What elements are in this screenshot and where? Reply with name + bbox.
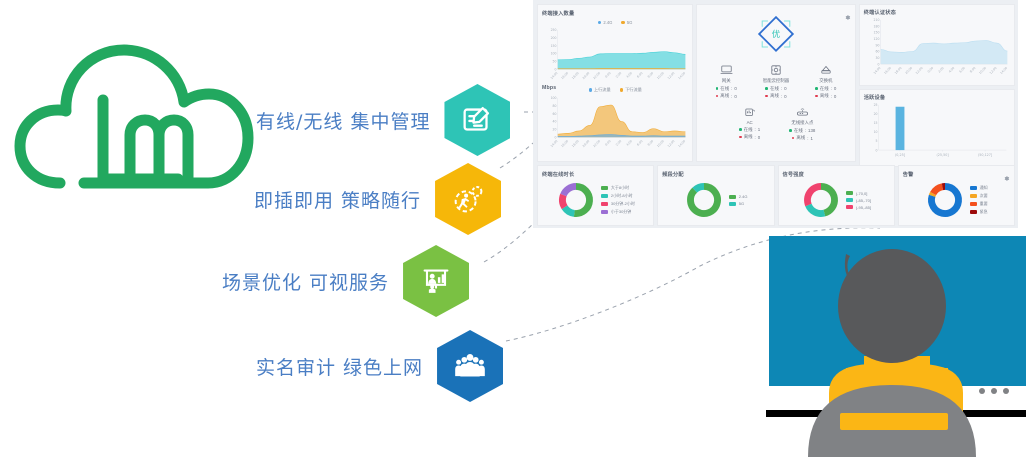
svg-text:14:00: 14:00 — [677, 139, 686, 148]
offline-dot — [765, 95, 768, 98]
svg-text:210: 210 — [873, 18, 879, 22]
svg-text:25: 25 — [873, 103, 877, 107]
donut-legend-swatch — [601, 186, 608, 190]
feature-label: 实名审计 绿色上网 — [256, 353, 423, 380]
svg-text:20:00: 20:00 — [582, 71, 591, 80]
donut-chart — [801, 180, 841, 220]
offline-dot — [792, 137, 795, 140]
svg-text:16:00: 16:00 — [560, 139, 569, 148]
donut-legend-label: 2.4G — [739, 194, 748, 199]
device-cell-switch: 交换机 在线: 0 离线: 0 — [802, 62, 850, 99]
svg-text:0:00: 0:00 — [604, 71, 612, 79]
offline-label: 离线 — [770, 93, 779, 99]
right-charts-column: 终端认证状态 030609012015018021014:0016:0018:0… — [859, 4, 1015, 162]
svg-text:120: 120 — [873, 37, 879, 41]
people-group-icon — [437, 330, 503, 402]
legend-label: 5G — [627, 20, 633, 25]
donut-legend-item: 2小时-8小时 — [601, 193, 635, 199]
donut-legend-item: 小于30分钟 — [601, 209, 635, 215]
terminal-chart-legend: 2.4G 5G — [542, 20, 688, 25]
offline-dot — [716, 95, 719, 98]
svg-text:6:00: 6:00 — [958, 66, 966, 74]
legend-item: 5G — [621, 20, 632, 25]
donut-legend-item: 5G — [729, 201, 747, 206]
legend-label: 上行流量 — [594, 87, 611, 93]
donut-charts-row: 终端在线时长 大于8小时2小时-8小时30分钟-2小时小于30分钟 频段分配 2… — [537, 165, 1015, 226]
donut-legend-label: 5G — [739, 201, 744, 206]
donut-legend-label: (-95,-85] — [856, 205, 871, 210]
device-online: 在线: 0 — [752, 86, 800, 92]
device-online: 在线: 0 — [802, 86, 850, 92]
person-at-monitor-illustration — [766, 236, 1026, 457]
online-count: 0 — [834, 86, 836, 91]
svg-text:18:00: 18:00 — [571, 139, 580, 148]
svg-text:2:00: 2:00 — [615, 71, 623, 79]
offline-count: 1 — [810, 136, 812, 141]
svg-text:20:00: 20:00 — [904, 66, 913, 75]
offline-count: 0 — [834, 94, 836, 99]
device-name: 无线接入点 — [778, 120, 826, 126]
donut-legend: 2.4G5G — [729, 194, 747, 206]
settings-gear-icon[interactable] — [844, 8, 851, 26]
donut-card-alarm: 告警 通知次要重要紧急 — [898, 165, 1015, 226]
svg-text:0: 0 — [875, 148, 877, 152]
device-offline: 离线: 0 — [726, 134, 774, 140]
presentation-chart-icon — [403, 245, 469, 317]
svg-text:20: 20 — [873, 112, 877, 116]
online-count: 138 — [808, 128, 815, 133]
svg-text:60: 60 — [553, 112, 557, 116]
donut-legend-label: (-70,0] — [856, 191, 868, 196]
svg-text:22:00: 22:00 — [592, 139, 601, 148]
device-row-bottom: AC 在线: 1 离线: 0 — [701, 104, 850, 141]
svg-text:5: 5 — [875, 139, 877, 143]
svg-text:(50,127]: (50,127] — [978, 153, 993, 157]
offline-count: 0 — [734, 94, 736, 99]
online-label: 在线 — [794, 128, 803, 134]
gateway-icon — [702, 62, 750, 77]
device-online: 在线: 1 — [726, 127, 774, 133]
online-dot — [815, 87, 818, 90]
traffic-chart-legend: 上行流量 下行流量 — [542, 87, 688, 93]
donut-legend-item: 2.4G — [729, 194, 747, 199]
feature-hex-icon-wrap — [435, 163, 501, 235]
donut-legend-item: (-70,0] — [846, 191, 871, 196]
donut-legend-label: 大于8小时 — [611, 185, 629, 191]
donut-legend-swatch — [846, 191, 853, 195]
svg-text:60: 60 — [875, 50, 879, 54]
svg-text:10:00: 10:00 — [656, 71, 665, 80]
feature-row-plug-and-play: 即插即用 策略随行 — [254, 163, 501, 235]
active-devices-card: 活跃设备 0510152025(0,25](25,50](50,127] — [859, 89, 1015, 167]
donut-legend-label: 小于30分钟 — [611, 209, 631, 215]
svg-text:12:00: 12:00 — [667, 71, 676, 80]
donut-legend-swatch — [729, 202, 736, 206]
donut-body: 2.4G5G — [662, 180, 769, 220]
online-count: 1 — [758, 127, 760, 132]
svg-text:0:00: 0:00 — [604, 139, 612, 147]
donut-legend-swatch — [846, 205, 853, 209]
svg-text:100: 100 — [551, 96, 557, 100]
online-label: 在线 — [720, 86, 729, 92]
donut-card-band-allocation: 频段分配 2.4G5G — [657, 165, 774, 226]
svg-text:250: 250 — [551, 28, 557, 32]
donut-legend-label: 通知 — [980, 185, 988, 191]
traffic-area-chart: 02040608010014:0016:0018:0020:0022:000:0… — [542, 95, 688, 150]
feature-row-centralized-management: 有线/无线 集中管理 — [256, 84, 510, 156]
donut-chart — [556, 180, 596, 220]
settings-gear-icon[interactable] — [1003, 169, 1010, 187]
auth-status-area-chart: 030609012015018021014:0016:0018:0020:002… — [864, 16, 1010, 81]
legend-dot-downlink — [620, 88, 623, 91]
online-label: 在线 — [820, 86, 829, 92]
feature-row-scenario-optimization: 场景优化 可视服务 — [222, 245, 469, 317]
svg-text:150: 150 — [873, 31, 879, 35]
donut-legend: 通知次要重要紧急 — [970, 185, 988, 215]
device-offline: 离线: 1 — [778, 135, 826, 141]
donut-legend-swatch — [970, 186, 977, 190]
promo-banner: 有线/无线 集中管理 即插即用 策略随行 — [0, 0, 1026, 457]
donut-chart — [684, 180, 724, 220]
svg-text:(0,25]: (0,25] — [895, 153, 906, 157]
donut-legend-swatch — [846, 198, 853, 202]
svg-text:14:00: 14:00 — [550, 139, 559, 148]
feature-label: 场景优化 可视服务 — [222, 268, 389, 295]
feature-hex-icon-wrap — [437, 330, 503, 402]
svg-text:80: 80 — [553, 104, 557, 108]
donut-legend: (-70,0](-85,-70](-95,-85] — [846, 191, 871, 210]
svg-text:6:00: 6:00 — [636, 139, 644, 147]
donut-legend-item: 重要 — [970, 201, 988, 207]
device-status-card: 优 网关 在线: 0 — [696, 4, 855, 162]
device-name: 智能云控制器 — [752, 78, 800, 84]
terminal-access-area-chart: 05010015020025014:0016:0018:0020:0022:00… — [542, 27, 688, 82]
feature-hex-icon-wrap — [403, 245, 469, 317]
svg-text:10: 10 — [873, 130, 877, 134]
svg-text:40: 40 — [553, 120, 557, 124]
svg-text:10:00: 10:00 — [656, 139, 665, 148]
device-cell-gateway: 网关 在线: 0 离线: 0 — [702, 62, 750, 99]
svg-text:16:00: 16:00 — [883, 66, 892, 75]
terminal-and-traffic-card: 终端接入数量 2.4G 5G 05010015020025014:0016:00… — [537, 4, 693, 162]
donut-title: 频段分配 — [662, 171, 769, 178]
svg-text:20:00: 20:00 — [582, 139, 591, 148]
active-devices-bar-chart: 0510152025(0,25](25,50](50,127] — [864, 101, 1010, 162]
svg-text:90: 90 — [875, 43, 879, 47]
offline-count: 0 — [758, 135, 760, 140]
offline-label: 离线 — [744, 134, 753, 140]
svg-text:14:00: 14:00 — [872, 66, 881, 75]
legend-item: 下行流量 — [620, 87, 642, 93]
donut-body: 大于8小时2小时-8小时30分钟-2小时小于30分钟 — [542, 180, 649, 220]
donut-legend-item: (-85,-70] — [846, 198, 871, 203]
donut-legend-swatch — [729, 195, 736, 199]
legend-item: 2.4G — [598, 20, 612, 25]
svg-text:50: 50 — [553, 60, 557, 64]
cloud-controller-icon — [752, 62, 800, 77]
svg-text:12:00: 12:00 — [988, 66, 997, 75]
svg-text:10:00: 10:00 — [978, 66, 987, 75]
svg-text:8:00: 8:00 — [647, 71, 655, 79]
svg-text:4:00: 4:00 — [625, 139, 633, 147]
document-pen-icon — [444, 84, 510, 156]
donut-legend: 大于8小时2小时-8小时30分钟-2小时小于30分钟 — [601, 185, 635, 215]
legend-dot-24g — [598, 21, 601, 24]
device-offline: 离线: 0 — [752, 93, 800, 99]
donut-legend-item: (-95,-85] — [846, 205, 871, 210]
donut-title: 告警 — [903, 171, 1010, 178]
online-dot — [716, 87, 719, 90]
donut-legend-swatch — [970, 202, 977, 206]
svg-text:20: 20 — [553, 128, 557, 132]
quality-label: 优 — [772, 29, 781, 39]
legend-item: 上行流量 — [589, 87, 611, 93]
svg-text:150: 150 — [551, 44, 557, 48]
donut-card-signal-strength: 信号强度 (-70,0](-85,-70](-95,-85] — [778, 165, 895, 226]
terminal-chart-title: 终端接入数量 — [542, 10, 688, 17]
online-count: 0 — [784, 86, 786, 91]
svg-text:0:00: 0:00 — [926, 66, 934, 74]
svg-text:30: 30 — [875, 56, 879, 60]
offline-label: 离线 — [796, 135, 805, 141]
auth-status-card: 终端认证状态 030609012015018021014:0016:0018:0… — [859, 4, 1015, 86]
device-cell-access-point: 无线接入点 在线: 138 离线: 1 — [778, 104, 826, 141]
svg-text:22:00: 22:00 — [915, 66, 924, 75]
online-dot — [765, 87, 768, 90]
donut-title: 终端在线时长 — [542, 171, 649, 178]
donut-legend-label: 次要 — [980, 193, 988, 199]
offline-dot — [815, 95, 818, 98]
online-label: 在线 — [744, 127, 753, 133]
feature-hex-icon-wrap — [444, 84, 510, 156]
device-row-top: 网关 在线: 0 离线: 0 — [701, 62, 850, 99]
network-quality-badge: 优 — [701, 11, 850, 57]
svg-text:2:00: 2:00 — [615, 139, 623, 147]
device-cell-cloud-controller: 智能云控制器 在线: 0 离线: 0 — [752, 62, 800, 99]
svg-text:15: 15 — [873, 121, 877, 125]
svg-text:100: 100 — [551, 52, 557, 56]
online-label: 在线 — [770, 86, 779, 92]
active-chart-title: 活跃设备 — [864, 94, 1010, 101]
svg-text:(25,50]: (25,50] — [936, 153, 949, 157]
online-dot — [789, 129, 792, 132]
legend-dot-5g — [621, 21, 624, 24]
device-online: 在线: 0 — [702, 86, 750, 92]
svg-text:18:00: 18:00 — [893, 66, 902, 75]
clm-cloud-logo — [8, 28, 258, 193]
donut-legend-label: 30分钟-2小时 — [611, 201, 635, 207]
ac-icon — [726, 104, 774, 119]
device-cell-ac: AC 在线: 1 离线: 0 — [726, 104, 774, 141]
offline-dot — [739, 136, 742, 139]
svg-text:18:00: 18:00 — [571, 71, 580, 80]
svg-text:14:00: 14:00 — [999, 66, 1008, 75]
donut-title: 信号强度 — [783, 171, 890, 178]
donut-body: (-70,0](-85,-70](-95,-85] — [783, 180, 890, 220]
donut-legend-label: 重要 — [980, 201, 988, 207]
legend-label: 2.4G — [603, 20, 612, 25]
auth-chart-title: 终端认证状态 — [864, 9, 1010, 16]
donut-card-online-duration: 终端在线时长 大于8小时2小时-8小时30分钟-2小时小于30分钟 — [537, 165, 654, 226]
feature-row-real-name-audit: 实名审计 绿色上网 — [256, 330, 503, 402]
offline-label: 离线 — [720, 93, 729, 99]
offline-count: 0 — [784, 94, 786, 99]
donut-legend-swatch — [601, 210, 608, 214]
donut-legend-label: (-85,-70] — [856, 198, 871, 203]
device-name: AC — [726, 120, 774, 125]
donut-legend-item: 次要 — [970, 193, 988, 199]
device-name: 网关 — [702, 78, 750, 84]
access-point-icon — [778, 104, 826, 119]
svg-text:200: 200 — [551, 36, 557, 40]
svg-text:2:00: 2:00 — [937, 66, 945, 74]
svg-text:14:00: 14:00 — [550, 71, 559, 80]
device-offline: 离线: 0 — [702, 93, 750, 99]
device-name: 交换机 — [802, 78, 850, 84]
offline-label: 离线 — [820, 93, 829, 99]
svg-text:4:00: 4:00 — [947, 66, 955, 74]
svg-text:4:00: 4:00 — [625, 71, 633, 79]
legend-label: 下行流量 — [625, 87, 642, 93]
switch-icon — [802, 62, 850, 77]
device-offline: 离线: 0 — [802, 93, 850, 99]
donut-legend-item: 紧急 — [970, 209, 988, 215]
donut-legend-swatch — [970, 194, 977, 198]
legend-dot-uplink — [589, 88, 592, 91]
donut-legend-label: 紧急 — [980, 209, 988, 215]
donut-legend-label: 2小时-8小时 — [611, 193, 633, 199]
donut-legend-swatch — [601, 202, 608, 206]
donut-legend-item: 大于8小时 — [601, 185, 635, 191]
feature-label: 有线/无线 集中管理 — [256, 107, 430, 134]
svg-text:14:00: 14:00 — [677, 71, 686, 80]
gear-person-icon — [435, 163, 501, 235]
donut-legend-swatch — [970, 210, 977, 214]
donut-legend-swatch — [601, 194, 608, 198]
svg-text:12:00: 12:00 — [667, 139, 676, 148]
feature-label: 即插即用 策略随行 — [254, 186, 421, 213]
online-count: 0 — [734, 86, 736, 91]
svg-text:6:00: 6:00 — [636, 71, 644, 79]
online-dot — [739, 128, 742, 131]
device-online: 在线: 138 — [778, 128, 826, 134]
svg-text:8:00: 8:00 — [969, 66, 977, 74]
svg-text:8:00: 8:00 — [647, 139, 655, 147]
donut-legend-item: 通知 — [970, 185, 988, 191]
network-dashboard: 终端接入数量 2.4G 5G 05010015020025014:0016:00… — [533, 0, 1018, 228]
svg-text:16:00: 16:00 — [560, 71, 569, 80]
svg-text:180: 180 — [873, 24, 879, 28]
donut-legend-item: 30分钟-2小时 — [601, 201, 635, 207]
donut-chart — [925, 180, 965, 220]
donut-body: 通知次要重要紧急 — [903, 180, 1010, 220]
svg-text:22:00: 22:00 — [592, 71, 601, 80]
